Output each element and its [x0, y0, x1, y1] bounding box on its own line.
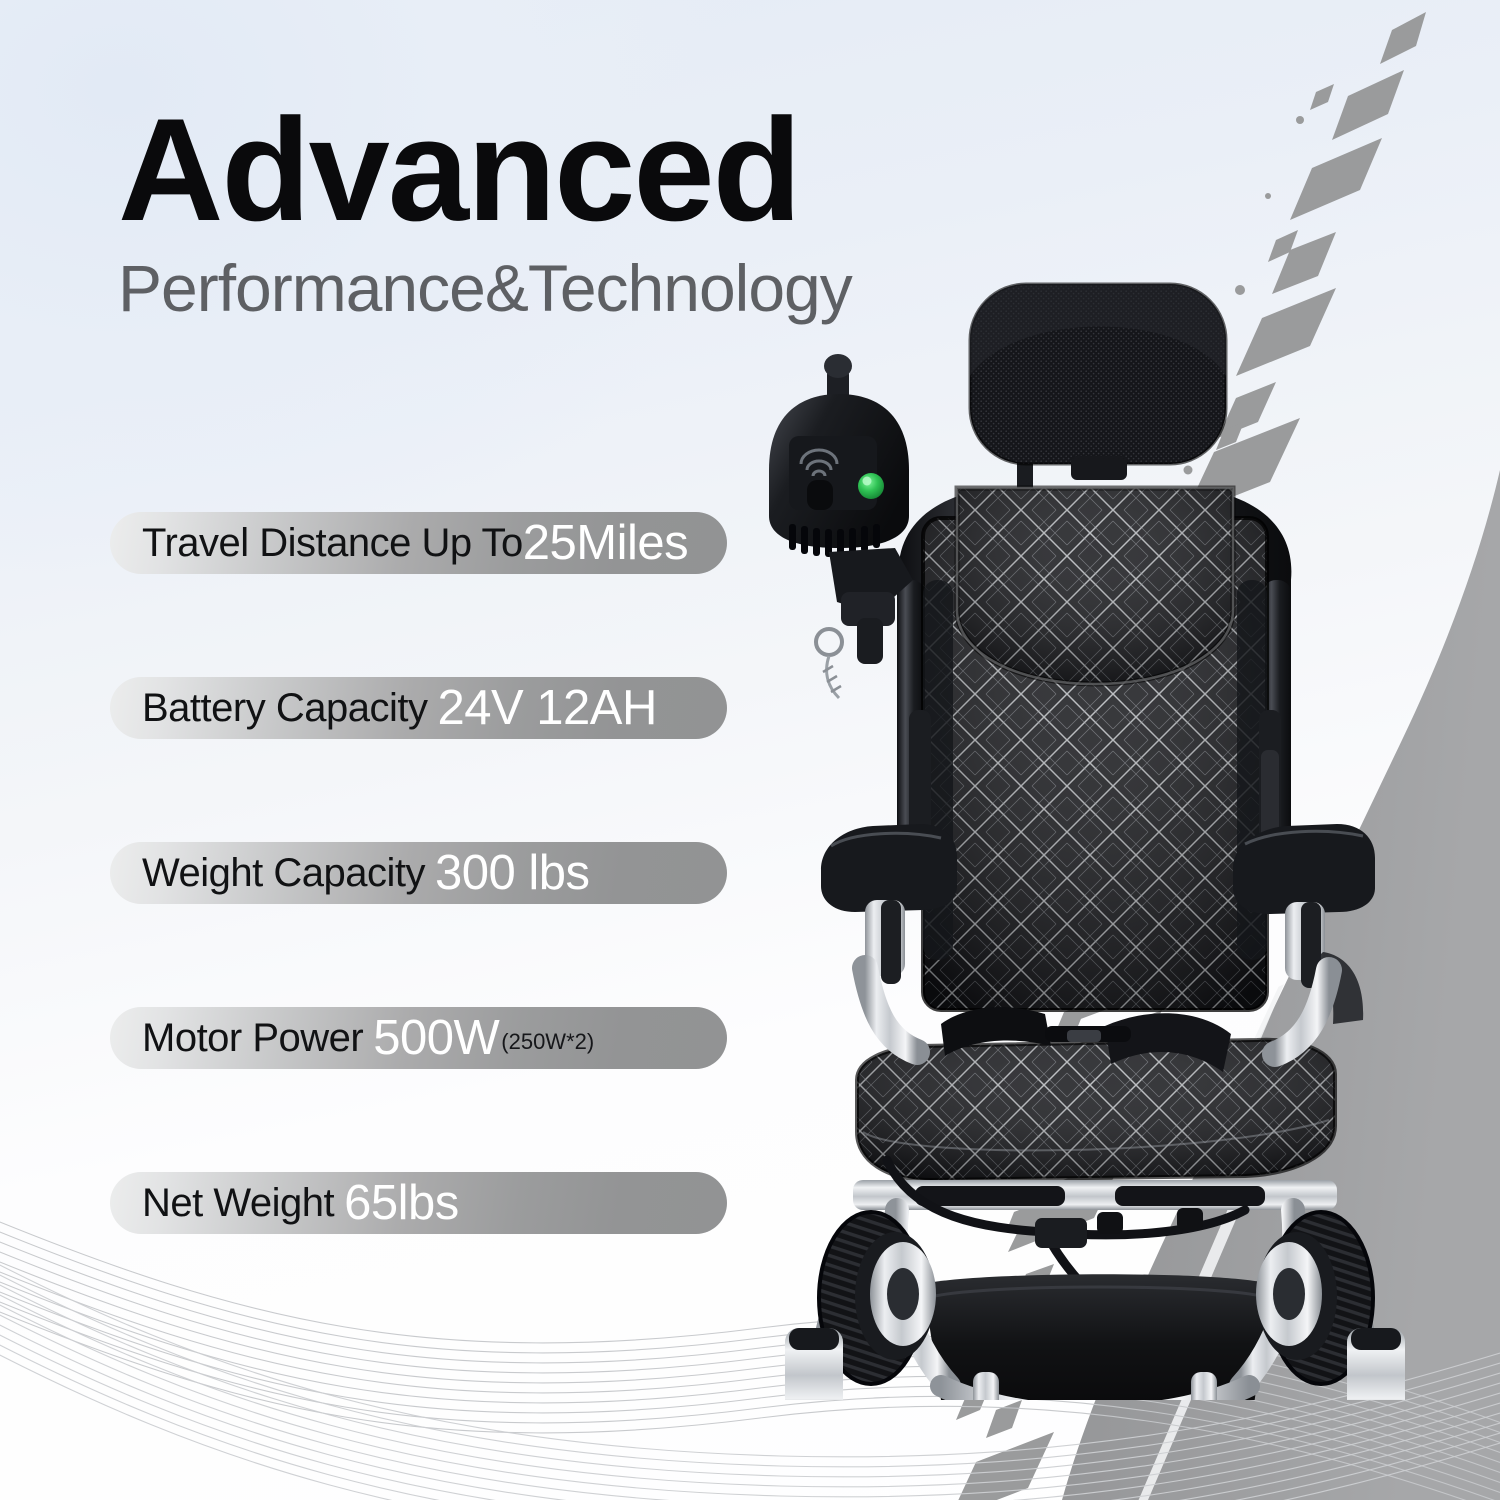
left-footplate-post: [973, 1372, 999, 1400]
quilted-backrest: [923, 488, 1267, 1010]
green-power-indicator: [858, 473, 884, 499]
quilted-seat-cushion: [857, 1040, 1335, 1180]
spec-pill-net-weight: Net Weight 65lbs: [110, 1172, 727, 1234]
infographic-canvas: Advanced Performance&Technology Travel D…: [0, 0, 1500, 1500]
spec-value: 24V 12AH: [437, 680, 656, 736]
right-footplate-post: [1191, 1372, 1217, 1400]
spec-pill-travel-distance: Travel Distance Up To 25Miles: [110, 512, 727, 574]
spec-value: 65lbs: [344, 1175, 459, 1231]
spec-label: Travel Distance Up To: [142, 521, 523, 566]
spec-label: Net Weight: [142, 1181, 334, 1226]
product-image-electric-wheelchair: [745, 280, 1445, 1400]
key-ring-icon: [816, 629, 842, 655]
spec-value: 500W: [373, 1010, 499, 1066]
spec-value: 300 lbs: [435, 845, 590, 901]
spec-list: Travel Distance Up To 25Miles Battery Ca…: [110, 512, 730, 1234]
spec-pill-battery-capacity: Battery Capacity 24V 12AH: [110, 677, 727, 739]
page-title: Advanced: [118, 96, 1018, 245]
spec-label: Motor Power: [142, 1016, 363, 1061]
spec-pill-motor-power: Motor Power 500W (250W*2): [110, 1007, 727, 1069]
spec-label: Weight Capacity: [142, 851, 425, 896]
spec-pill-weight-capacity: Weight Capacity 300 lbs: [110, 842, 727, 904]
joystick-controller: [769, 354, 913, 698]
spec-value: 25Miles: [523, 515, 688, 571]
mesh-headrest: [970, 284, 1226, 510]
spec-label: Battery Capacity: [142, 686, 427, 731]
battery-gauge-icon: [807, 480, 833, 510]
headrest-mount: [1071, 456, 1127, 480]
cable-junction-box: [1035, 1218, 1087, 1248]
spec-note: (250W*2): [501, 1029, 594, 1055]
